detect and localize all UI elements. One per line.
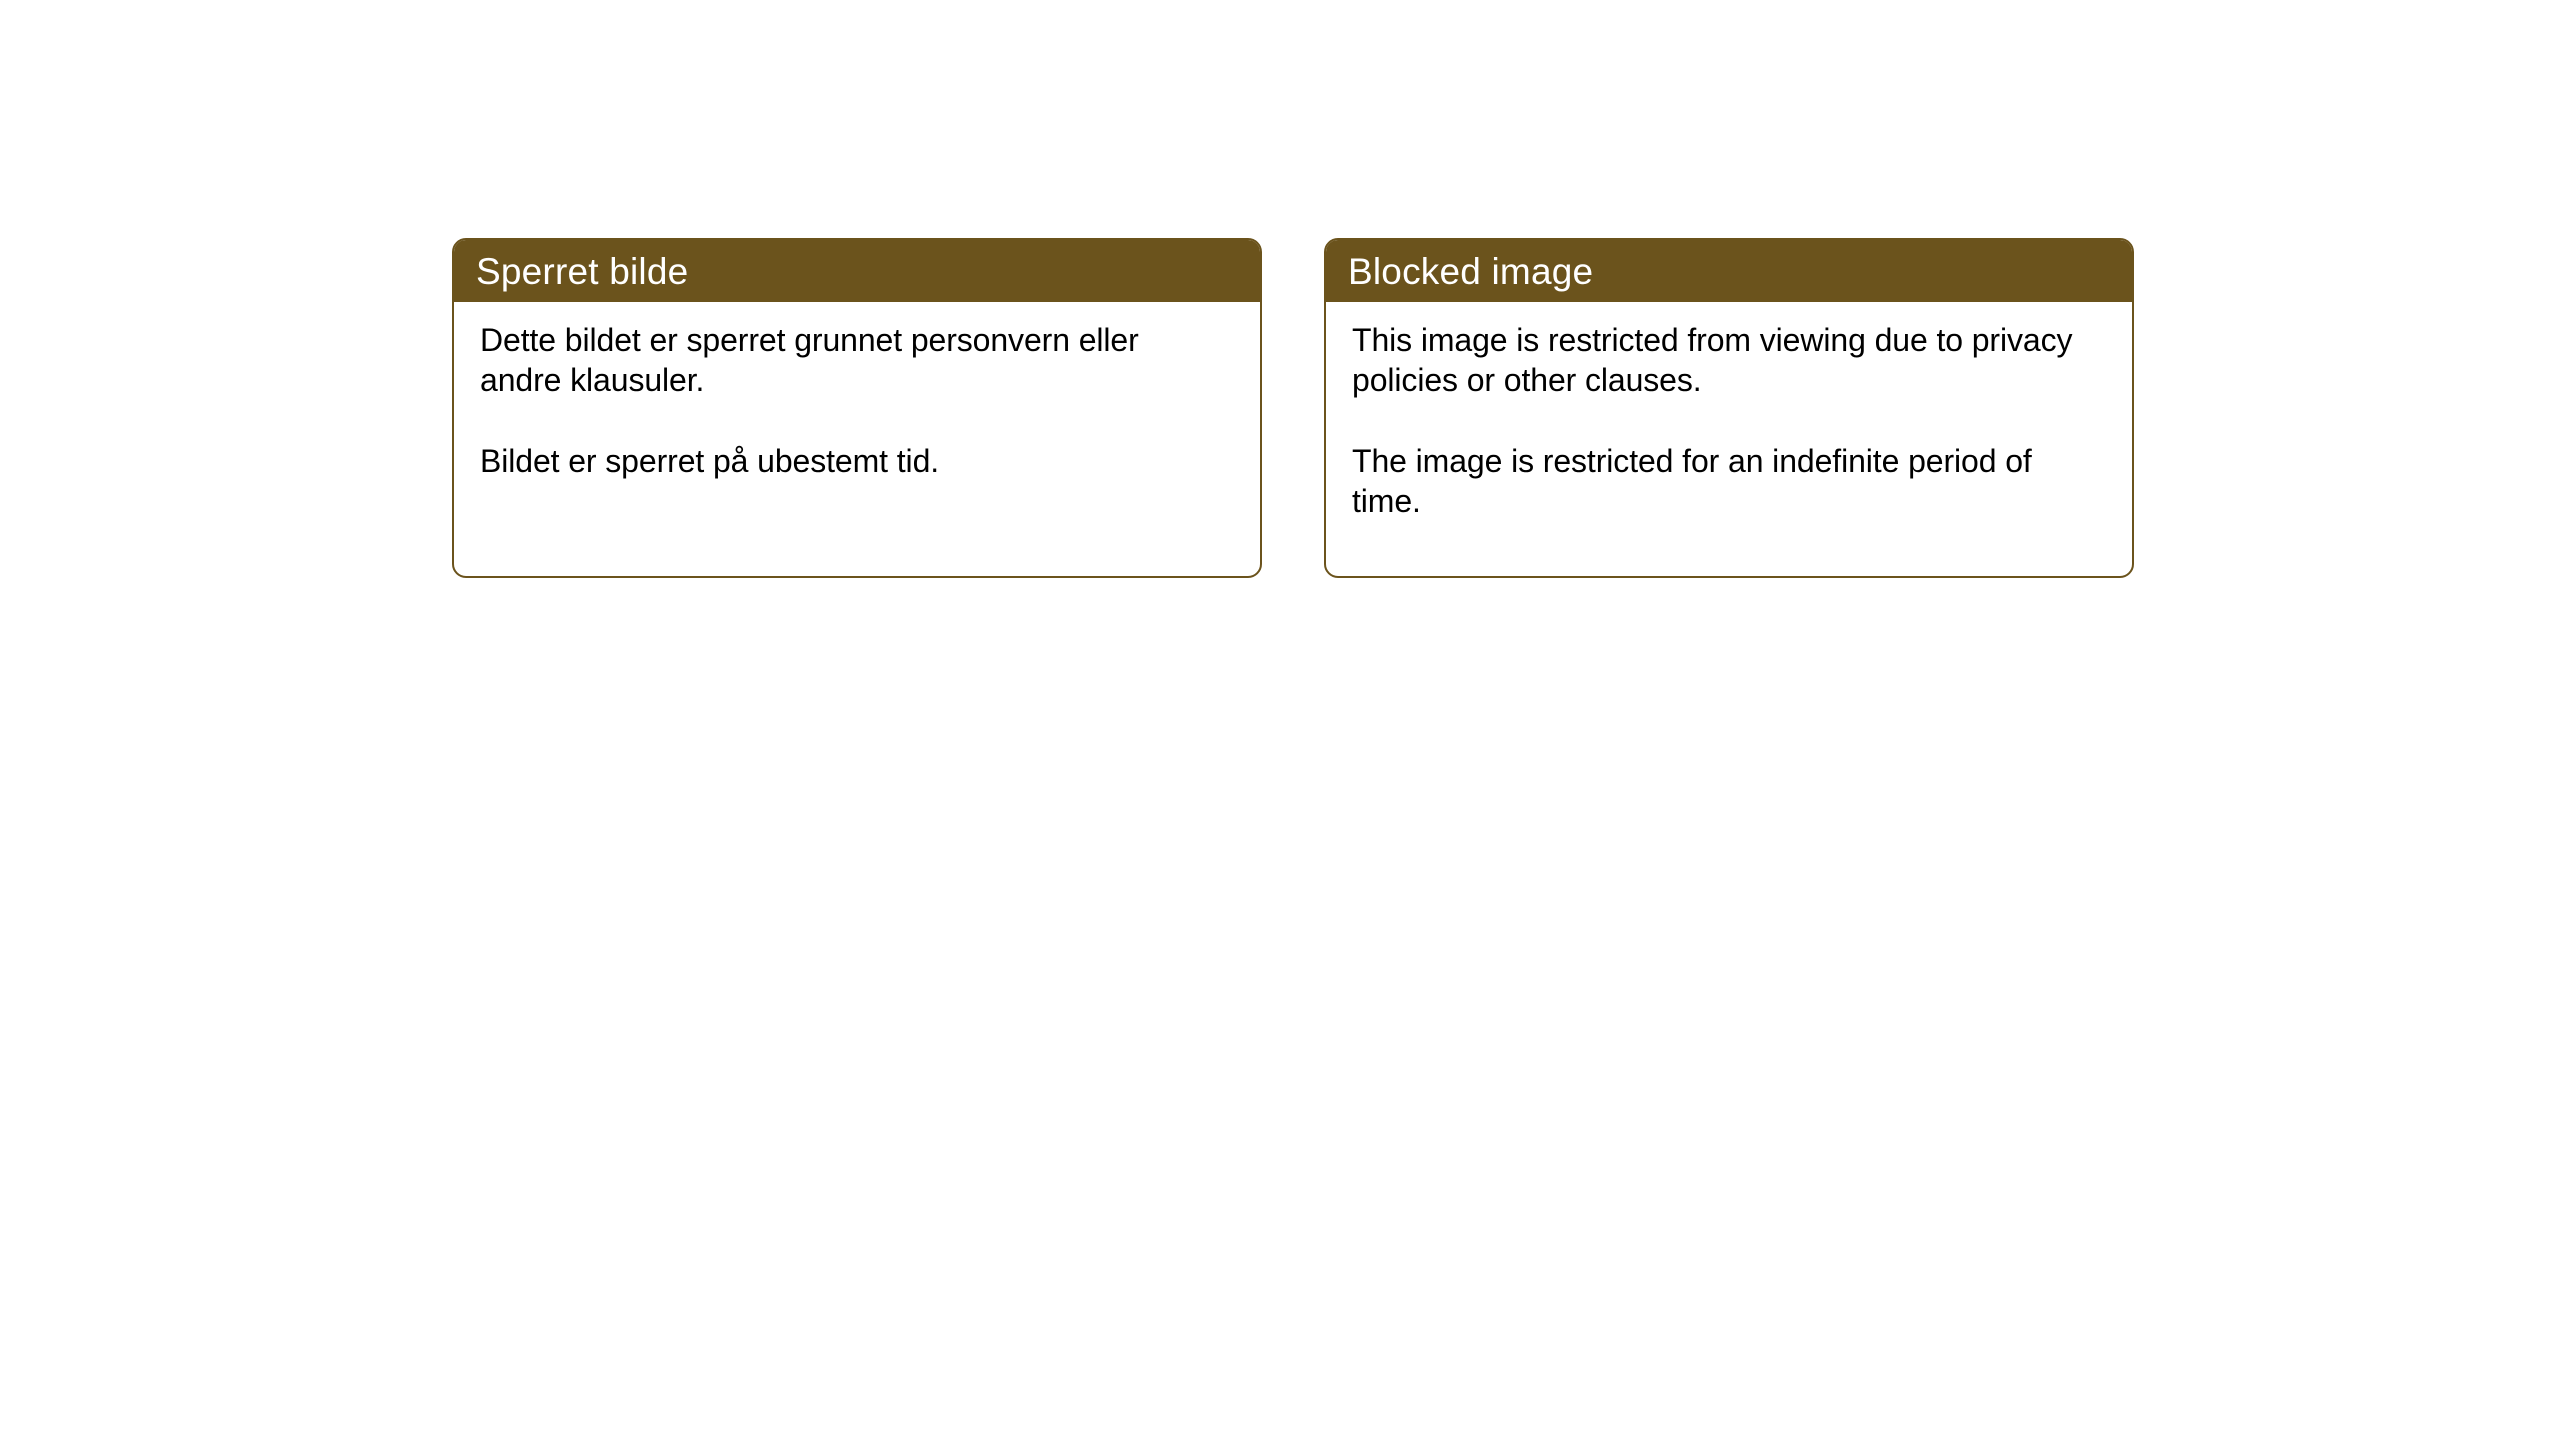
card-paragraph-duration-norwegian: Bildet er sperret på ubestemt tid. <box>480 441 1210 481</box>
card-paragraph-reason-english: This image is restricted from viewing du… <box>1352 320 2106 401</box>
card-body-english: This image is restricted from viewing du… <box>1326 302 2132 521</box>
card-title-english: Blocked image <box>1348 253 1593 290</box>
card-header-english: Blocked image <box>1326 240 2132 302</box>
blocked-image-notice-norwegian: Sperret bilde Dette bildet er sperret gr… <box>452 238 1262 578</box>
card-title-norwegian: Sperret bilde <box>476 253 688 290</box>
card-paragraph-duration-english: The image is restricted for an indefinit… <box>1352 441 2106 522</box>
blocked-image-notice-english: Blocked image This image is restricted f… <box>1324 238 2134 578</box>
card-header-norwegian: Sperret bilde <box>454 240 1260 302</box>
card-paragraph-reason-norwegian: Dette bildet er sperret grunnet personve… <box>480 320 1210 401</box>
card-body-norwegian: Dette bildet er sperret grunnet personve… <box>454 302 1260 481</box>
page-root: Sperret bilde Dette bildet er sperret gr… <box>0 0 2560 1440</box>
